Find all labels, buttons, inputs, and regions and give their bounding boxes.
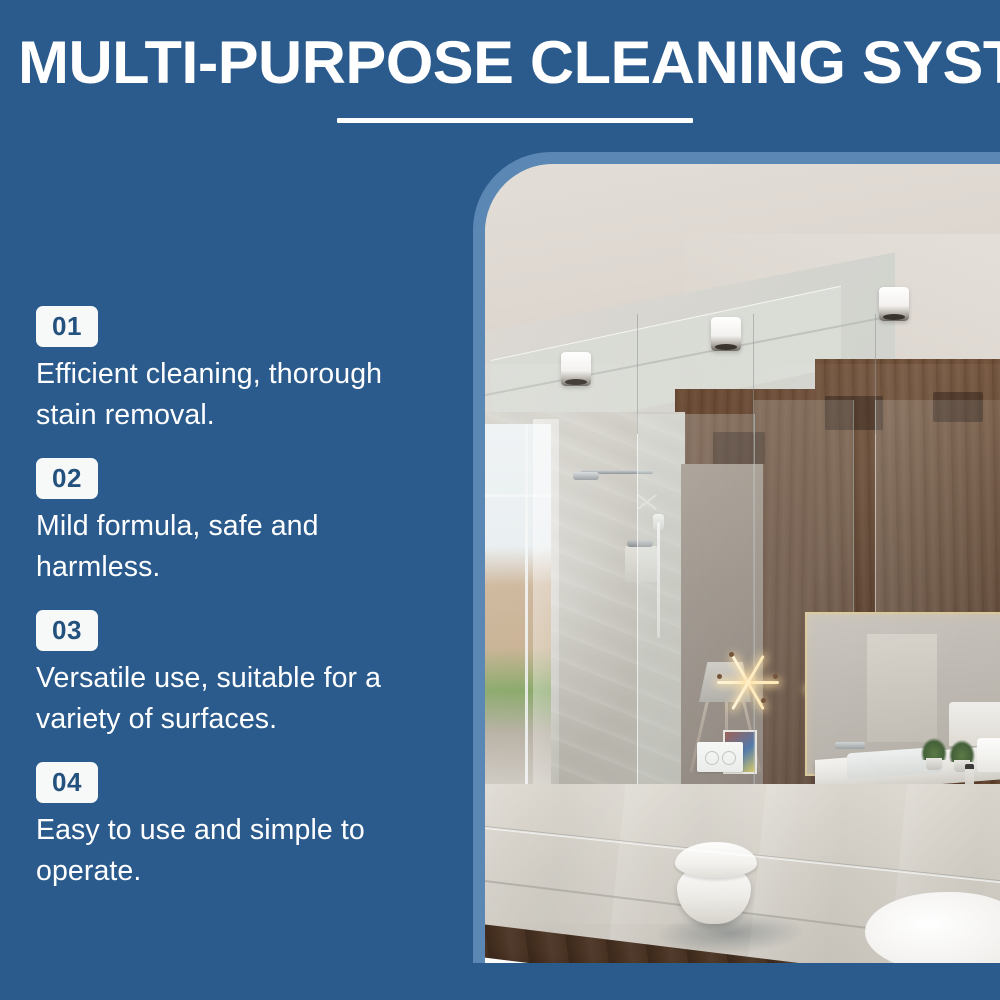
page-title: MULTI-PURPOSE CLEANING SYSTEM bbox=[18, 28, 1000, 98]
feature-text: Efficient cleaning, thorough stain remov… bbox=[36, 354, 446, 436]
plant-pot bbox=[926, 758, 942, 770]
feature-text: Mild formula, safe and harmless. bbox=[36, 506, 446, 588]
bathroom-scene bbox=[485, 164, 1000, 963]
ceiling-spotlight-icon bbox=[711, 317, 741, 351]
list-item: 04 Easy to use and simple to operate. bbox=[36, 762, 446, 892]
window-glass-reflection bbox=[533, 419, 559, 789]
faucet-icon bbox=[835, 742, 865, 749]
feature-number-badge: 01 bbox=[36, 306, 98, 347]
feature-text: Easy to use and simple to operate. bbox=[36, 810, 446, 892]
glass-edge-line bbox=[875, 314, 876, 434]
feature-number-badge: 03 bbox=[36, 610, 98, 651]
plant-leaves bbox=[949, 740, 975, 762]
mirror-reflected-door bbox=[867, 634, 937, 742]
rain-shower-head-icon bbox=[573, 472, 599, 480]
title-underline-divider bbox=[337, 118, 693, 123]
potted-plant bbox=[921, 740, 947, 770]
product-photo bbox=[485, 164, 1000, 963]
glass-shower-door bbox=[637, 414, 755, 814]
list-item: 01 Efficient cleaning, thorough stain re… bbox=[36, 306, 446, 436]
glass-edge-line bbox=[753, 314, 754, 434]
list-item: 03 Versatile use, suitable for a variety… bbox=[36, 610, 446, 740]
poster-canvas: MULTI-PURPOSE CLEANING SYSTEM 01 Efficie… bbox=[0, 0, 1000, 1000]
starburst-light-icon bbox=[713, 646, 783, 716]
list-item: 02 Mild formula, safe and harmless. bbox=[36, 458, 446, 588]
product-photo-frame bbox=[473, 152, 1000, 963]
feature-list: 01 Efficient cleaning, thorough stain re… bbox=[36, 306, 446, 892]
plant-leaves bbox=[921, 738, 947, 760]
feature-number-badge: 04 bbox=[36, 762, 98, 803]
feature-number-badge: 02 bbox=[36, 458, 98, 499]
feature-text: Versatile use, suitable for a variety of… bbox=[36, 658, 446, 740]
glass-edge-line bbox=[637, 314, 638, 434]
folded-towels bbox=[977, 738, 1000, 772]
window-mullion bbox=[525, 424, 528, 784]
ceiling-spotlight-icon bbox=[561, 352, 591, 386]
ceiling-spotlight-icon bbox=[879, 287, 909, 321]
